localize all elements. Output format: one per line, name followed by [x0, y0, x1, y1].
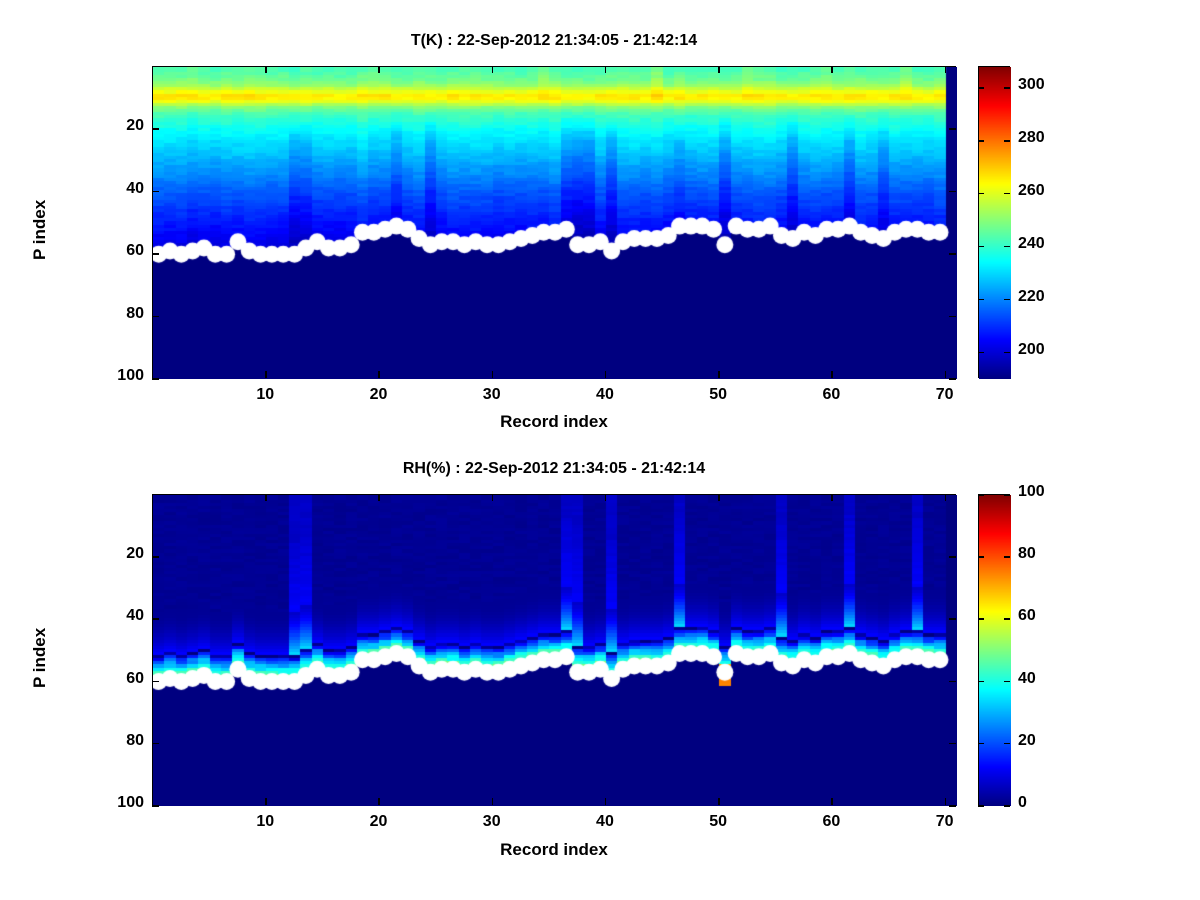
y-tickmark-right [949, 316, 956, 318]
x-tickmark-top [831, 66, 833, 73]
y-tickmark [152, 378, 159, 380]
matlab-figure: T(K) : 22-Sep-2012 21:34:05 - 21:42:14 P… [0, 0, 1200, 900]
colorbar-tickmark-right [1004, 743, 1010, 745]
y-tick-label: 80 [96, 305, 144, 323]
y-tickmark-right [949, 805, 956, 807]
x-tickmark-top [605, 66, 607, 73]
y-tickmark-right [949, 743, 956, 745]
y-tick-label: 100 [96, 367, 144, 385]
x-tickmark-top [605, 494, 607, 501]
y-tickmark-right [949, 681, 956, 683]
y-tickmark [152, 743, 159, 745]
y-tick-label: 60 [96, 670, 144, 688]
y-tickmark [152, 316, 159, 318]
y-tickmark-right [949, 253, 956, 255]
x-tickmark-top [378, 66, 380, 73]
x-tickmark [265, 371, 267, 378]
x-tick-label: 20 [348, 386, 408, 404]
humidity-colorbar-gradient [979, 495, 1011, 806]
x-tick-label: 30 [462, 386, 522, 404]
x-tick-label: 50 [688, 813, 748, 831]
x-tick-label: 40 [575, 386, 635, 404]
x-tick-label: 10 [235, 386, 295, 404]
x-tickmark [492, 798, 494, 805]
colorbar-tickmark [978, 805, 984, 807]
colorbar-tickmark-right [1004, 618, 1010, 620]
y-tickmark-right [949, 191, 956, 193]
colorbar-tick-label: 280 [1018, 129, 1078, 147]
x-tickmark-top [378, 494, 380, 501]
y-tickmark-right [949, 556, 956, 558]
x-tickmark [831, 371, 833, 378]
x-tickmark [718, 798, 720, 805]
x-tickmark [945, 371, 947, 378]
y-tick-label: 100 [96, 794, 144, 812]
colorbar-tick-label: 260 [1018, 182, 1078, 200]
x-tickmark-top [831, 494, 833, 501]
colorbar-tickmark-right [1004, 352, 1010, 354]
x-tickmark [945, 798, 947, 805]
x-tickmark [605, 371, 607, 378]
colorbar-tickmark [978, 352, 984, 354]
y-tick-label: 80 [96, 732, 144, 750]
colorbar-tick-label: 40 [1018, 670, 1078, 688]
x-tick-label: 10 [235, 813, 295, 831]
y-tick-label: 20 [96, 117, 144, 135]
x-tickmark-top [945, 66, 947, 73]
colorbar-tickmark [978, 494, 984, 496]
colorbar-tickmark-right [1004, 193, 1010, 195]
colorbar-tick-label: 300 [1018, 76, 1078, 94]
x-tick-label: 60 [801, 386, 861, 404]
colorbar-tickmark [978, 299, 984, 301]
x-tick-label: 50 [688, 386, 748, 404]
colorbar-tickmark [978, 246, 984, 248]
x-tickmark [378, 798, 380, 805]
humidity-axes [152, 494, 956, 805]
x-tickmark-top [945, 494, 947, 501]
x-tickmark [492, 371, 494, 378]
x-tickmark [831, 798, 833, 805]
x-tickmark [378, 371, 380, 378]
y-tickmark [152, 128, 159, 130]
colorbar-tickmark [978, 681, 984, 683]
colorbar-tickmark [978, 140, 984, 142]
colorbar-tickmark-right [1004, 246, 1010, 248]
colorbar-tickmark-right [1004, 681, 1010, 683]
colorbar-tickmark-right [1004, 299, 1010, 301]
humidity-title: RH(%) : 22-Sep-2012 21:34:05 - 21:42:14 [152, 460, 956, 478]
colorbar-tick-label: 220 [1018, 288, 1078, 306]
x-tickmark [718, 371, 720, 378]
colorbar-tickmark [978, 743, 984, 745]
colorbar-tick-label: 200 [1018, 341, 1078, 359]
x-tickmark [605, 798, 607, 805]
y-tick-label: 40 [96, 180, 144, 198]
x-tick-label: 20 [348, 813, 408, 831]
colorbar-tickmark [978, 556, 984, 558]
colorbar-tickmark [978, 87, 984, 89]
colorbar-tick-label: 0 [1018, 794, 1078, 812]
x-tickmark-top [718, 66, 720, 73]
y-tick-label: 20 [96, 545, 144, 563]
colorbar-tickmark [978, 193, 984, 195]
x-tickmark-top [265, 494, 267, 501]
colorbar-tickmark [978, 618, 984, 620]
humidity-colorbar [978, 494, 1010, 805]
colorbar-tick-label: 60 [1018, 607, 1078, 625]
y-tickmark [152, 191, 159, 193]
y-tickmark [152, 681, 159, 683]
x-tick-label: 60 [801, 813, 861, 831]
colorbar-tickmark-right [1004, 805, 1010, 807]
colorbar-tickmark-right [1004, 140, 1010, 142]
y-tickmark [152, 805, 159, 807]
x-tickmark-top [492, 66, 494, 73]
x-tick-label: 40 [575, 813, 635, 831]
y-tickmark [152, 618, 159, 620]
y-tick-label: 60 [96, 242, 144, 260]
y-tickmark-right [949, 618, 956, 620]
colorbar-tickmark-right [1004, 87, 1010, 89]
x-tickmark [265, 798, 267, 805]
colorbar-tick-label: 240 [1018, 235, 1078, 253]
humidity-ylabel: P index [30, 628, 50, 688]
y-tickmark-right [949, 128, 956, 130]
y-tickmark-right [949, 378, 956, 380]
colorbar-tick-label: 20 [1018, 732, 1078, 750]
colorbar-tick-label: 100 [1018, 483, 1078, 501]
humidity-xlabel: Record index [152, 840, 956, 860]
humidity-heatmap [153, 495, 957, 806]
x-tickmark-top [265, 66, 267, 73]
x-tickmark-top [492, 494, 494, 501]
colorbar-tick-label: 80 [1018, 545, 1078, 563]
x-tickmark-top [718, 494, 720, 501]
x-tick-label: 70 [915, 813, 975, 831]
colorbar-tickmark-right [1004, 494, 1010, 496]
y-tickmark [152, 253, 159, 255]
x-tick-label: 70 [915, 386, 975, 404]
y-tick-label: 40 [96, 607, 144, 625]
colorbar-tickmark-right [1004, 556, 1010, 558]
y-tickmark [152, 556, 159, 558]
x-tick-label: 30 [462, 813, 522, 831]
